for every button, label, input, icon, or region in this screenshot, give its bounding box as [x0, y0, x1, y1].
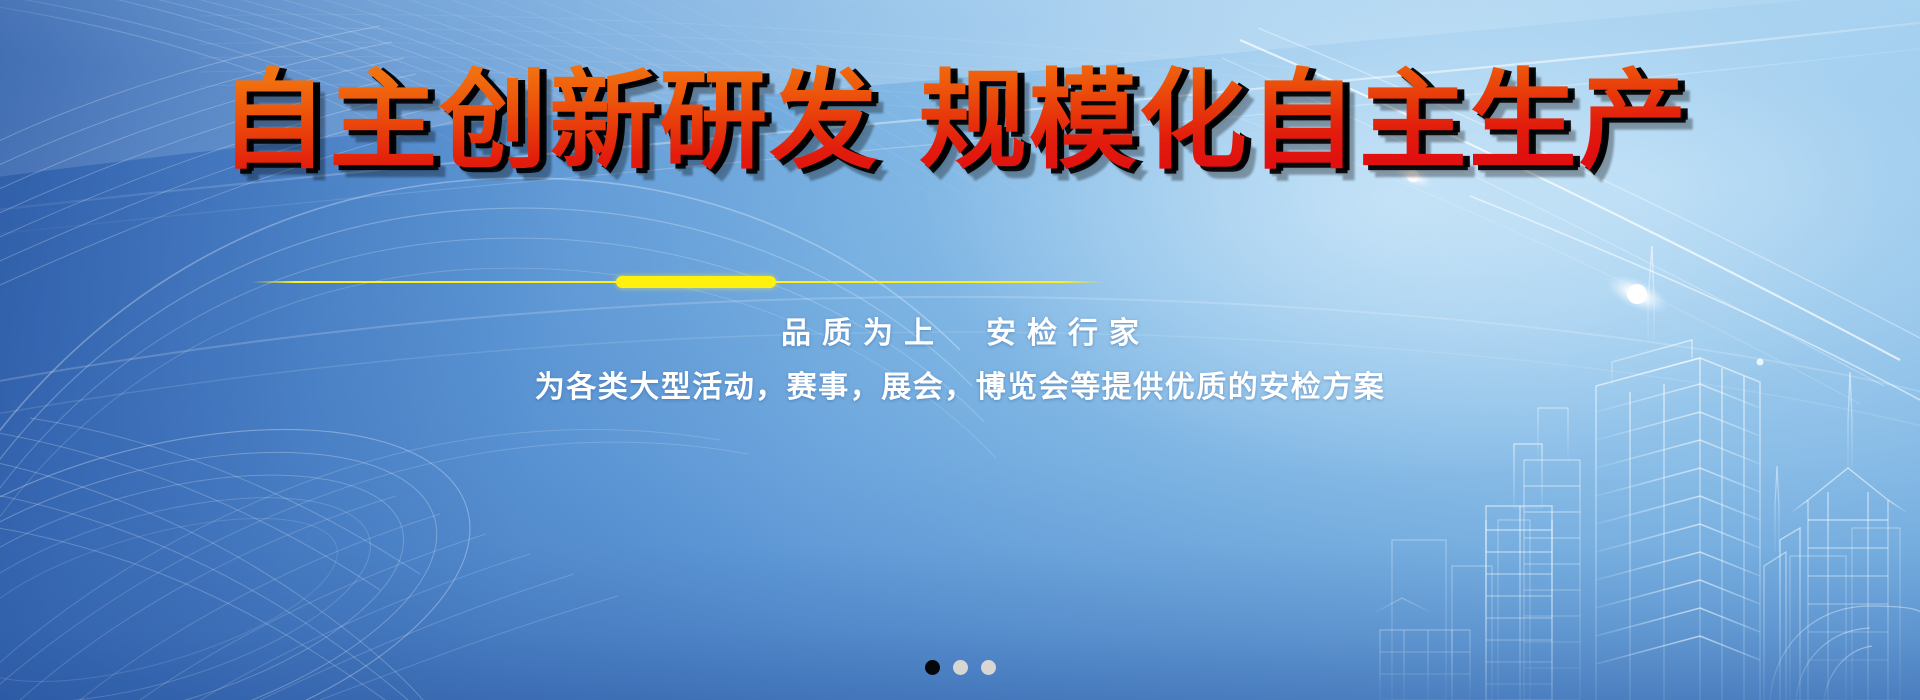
divider — [0, 276, 1920, 288]
banner-subtitle-secondary: 为各类大型活动，赛事，展会，博览会等提供优质的安检方案 — [0, 362, 1920, 406]
carousel-dot-3[interactable] — [981, 660, 996, 675]
banner-content: 自主创新研发 规模化自主生产 自主创新研发 规模化自主生产 品质为上 安检行家 … — [0, 0, 1920, 700]
hero-banner: 自主创新研发 规模化自主生产 自主创新研发 规模化自主生产 品质为上 安检行家 … — [0, 0, 1920, 700]
divider-accent-bar — [616, 276, 776, 288]
carousel-indicators — [0, 660, 1920, 675]
carousel-dot-2[interactable] — [953, 660, 968, 675]
carousel-dot-1[interactable] — [925, 660, 940, 675]
banner-headline: 自主创新研发 规模化自主生产 — [0, 58, 1914, 185]
banner-subtitle-primary: 品质为上 安检行家 — [0, 308, 1920, 352]
